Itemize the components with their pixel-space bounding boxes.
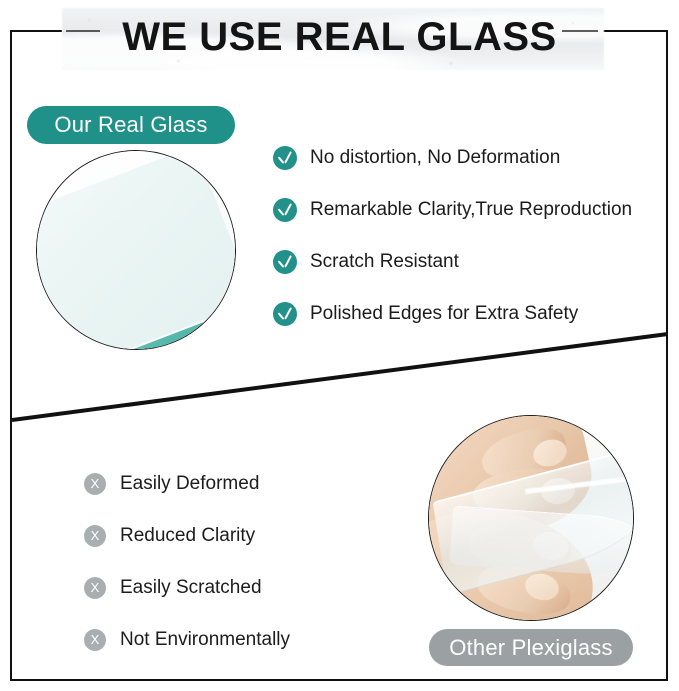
drawback-label: Easily Deformed [120,473,259,495]
feature-label: No distortion, No Deformation [310,147,560,169]
feature-row: Polished Edges for Extra Safety [273,288,673,340]
check-icon [273,302,297,326]
plexiglass-photo [428,415,634,621]
check-icon [273,250,297,274]
check-icon [273,198,297,222]
check-icon [273,146,297,170]
x-icon: X [84,577,106,599]
drawback-row: X Easily Deformed [84,458,414,510]
x-icon: X [84,525,106,547]
badge-other-plexiglass-label: Other Plexiglass [449,635,612,661]
feature-row: No distortion, No Deformation [273,132,673,184]
drawback-label: Not Environmentally [120,629,290,651]
drawback-row: X Reduced Clarity [84,510,414,562]
comparison-poster: WE USE REAL GLASS Our Real Glass No dist… [0,0,679,691]
frame-border-bottom [10,679,668,681]
badge-other-plexiglass: Other Plexiglass [429,629,633,666]
drawback-row: X Easily Scratched [84,562,414,614]
drawback-row: X Not Environmentally [84,614,414,666]
real-glass-photo [36,150,236,350]
x-icon: X [84,629,106,651]
badge-our-real-glass-label: Our Real Glass [54,112,207,138]
drawback-label: Easily Scratched [120,577,262,599]
badge-our-real-glass: Our Real Glass [27,106,235,144]
plexiglass-drawback-list: X Easily Deformed X Reduced Clarity X Ea… [84,458,414,666]
drawback-label: Reduced Clarity [120,525,255,547]
real-glass-feature-list: No distortion, No Deformation Remarkable… [273,132,673,340]
feature-label: Polished Edges for Extra Safety [310,303,578,325]
feature-row: Remarkable Clarity,True Reproduction [273,184,673,236]
page-title: WE USE REAL GLASS [0,13,679,61]
feature-label: Remarkable Clarity,True Reproduction [310,199,632,221]
x-icon: X [84,473,106,495]
feature-row: Scratch Resistant [273,236,673,288]
feature-label: Scratch Resistant [310,251,459,273]
